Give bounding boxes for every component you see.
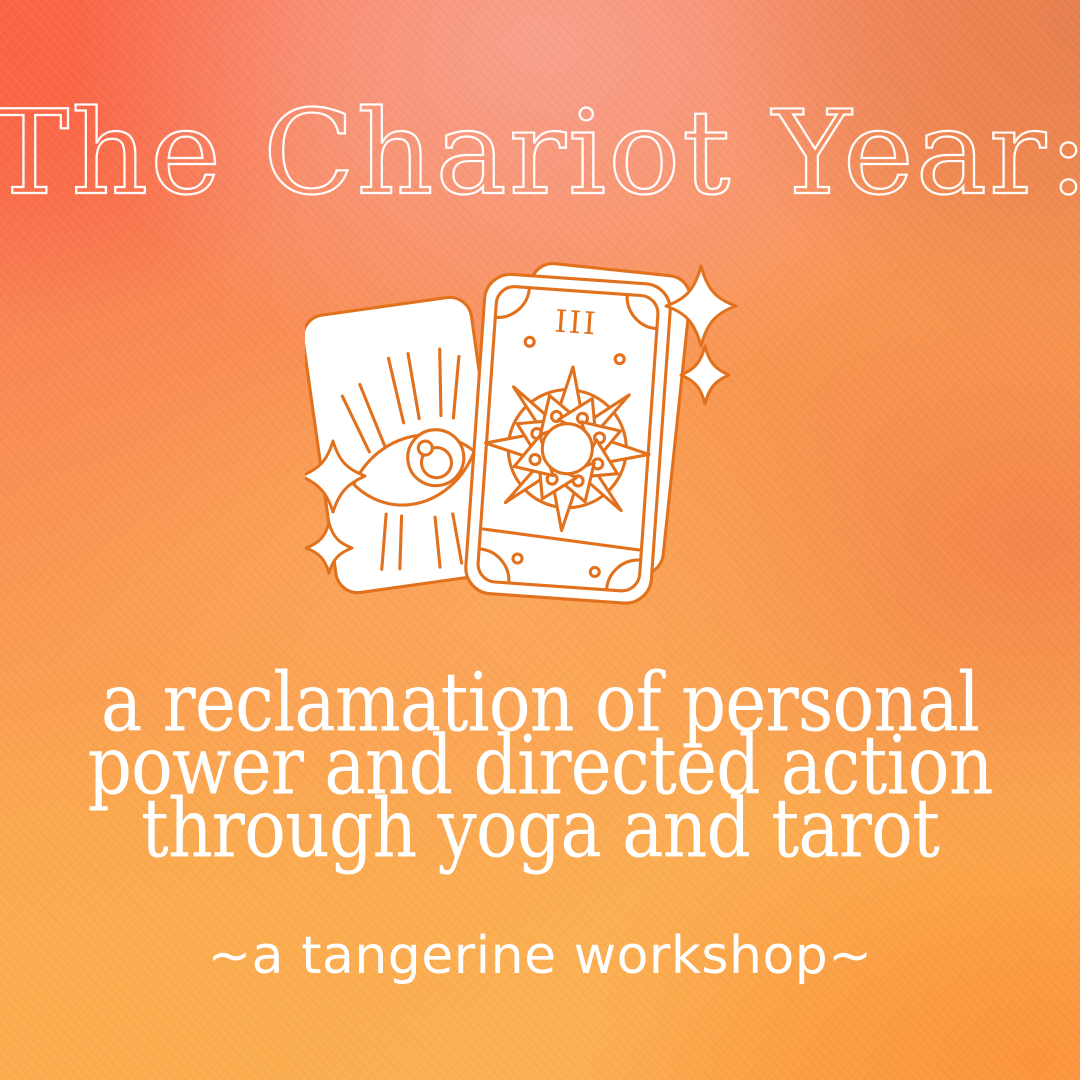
body-line-3: through yoga and tarot bbox=[32, 795, 1047, 864]
workshop-tagline: ~a tangerine workshop~ bbox=[0, 928, 1080, 985]
card-sun: III bbox=[464, 273, 672, 605]
svg-text:III: III bbox=[554, 304, 599, 343]
footer-block: ~a tangerine workshop~ bbox=[0, 928, 1080, 985]
tarot-cards-illustration: III bbox=[305, 258, 775, 648]
poster-canvas: The Chariot Year: bbox=[0, 0, 1080, 1080]
title-block: The Chariot Year: bbox=[0, 96, 1080, 212]
sparkle-top-right-small bbox=[681, 346, 729, 404]
poster-content: The Chariot Year: bbox=[0, 0, 1080, 1080]
poster-title: The Chariot Year: bbox=[0, 96, 1080, 212]
body-copy-block: a reclamation of personal power and dire… bbox=[0, 672, 1080, 861]
card-numeral: III bbox=[554, 304, 599, 343]
